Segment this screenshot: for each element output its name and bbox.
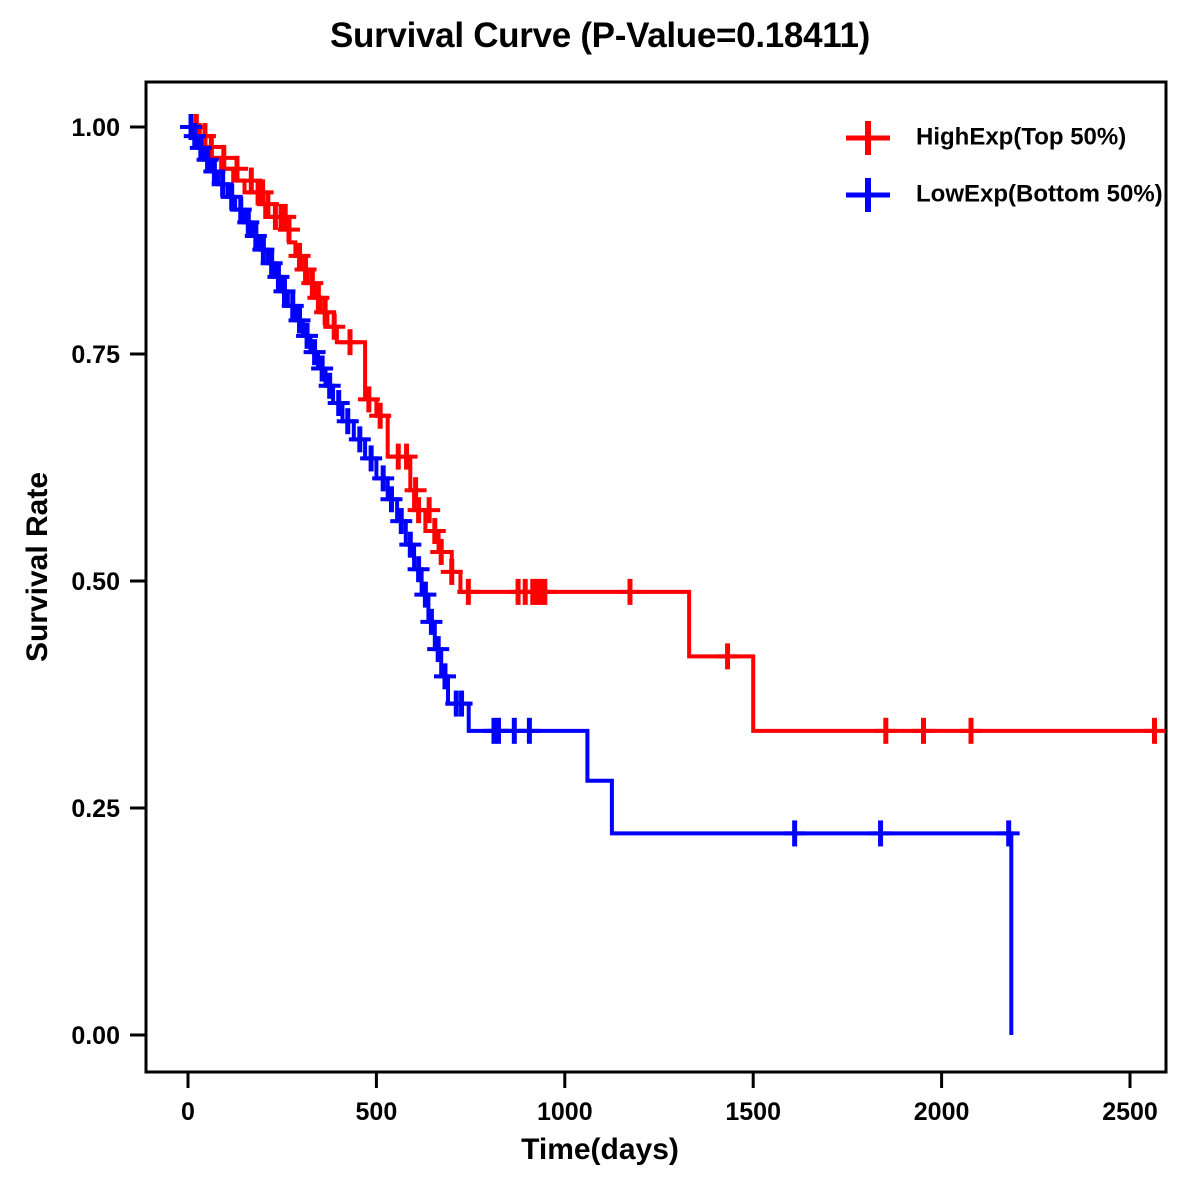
legend-label: HighExp(Top 50%) (916, 123, 1126, 150)
step-line (188, 127, 1011, 1035)
chart-legend: HighExp(Top 50%)LowExp(Bottom 50%) (846, 121, 1163, 212)
y-tick-label: 0.00 (71, 1022, 120, 1050)
y-tick-label: 0.75 (71, 341, 120, 369)
series-lowexp (180, 114, 1020, 1035)
y-tick-label: 0.25 (71, 795, 120, 823)
x-tick-label: 500 (356, 1098, 398, 1126)
step-line (188, 127, 1156, 731)
censor-marks (185, 114, 1165, 744)
x-tick-label: 1000 (537, 1098, 593, 1126)
series-layer (180, 114, 1165, 1035)
censor-marks (180, 114, 1020, 846)
y-tick-label: 1.00 (71, 114, 120, 142)
plot-area: 0.000.250.500.751.00 0500100015002000250… (0, 0, 1200, 1200)
legend-label: LowExp(Bottom 50%) (916, 180, 1163, 207)
legend-item: LowExp(Bottom 50%) (846, 178, 1163, 212)
series-highexp (185, 114, 1165, 744)
x-tick-label: 1500 (725, 1098, 781, 1126)
x-tick-label: 2000 (914, 1098, 970, 1126)
x-tick-label: 2500 (1102, 1098, 1158, 1126)
x-axis-ticks: 05001000150020002500 (181, 1072, 1158, 1126)
legend-item: HighExp(Top 50%) (846, 121, 1126, 155)
y-tick-label: 0.50 (71, 568, 120, 596)
survival-curve-figure: Survival Curve (P-Value=0.18411) Surviva… (0, 0, 1200, 1200)
x-tick-label: 0 (181, 1098, 195, 1126)
y-axis-ticks: 0.000.250.500.751.00 (71, 114, 146, 1050)
